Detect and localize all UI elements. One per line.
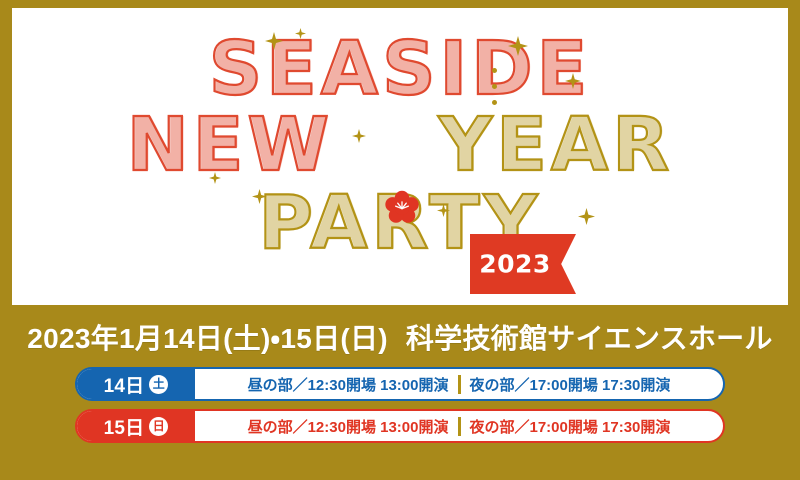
logo-line-seaside: SEASIDE: [12, 32, 788, 106]
sparkle-icon-8: [578, 208, 595, 230]
schedule-row-day2: 15日 日 昼の部／12:30開場 13:00開演 夜の部／17:00開場 17…: [75, 409, 725, 443]
sparkle-icon-4: [565, 73, 581, 94]
poster-root: SEASIDE NEW YEAR PARTY: [0, 0, 800, 480]
sparkle-icon-5: [352, 129, 366, 148]
plum-blossom-icon: [385, 190, 419, 224]
matinee-time-day1: 昼の部／12:30開場 13:00開演: [248, 374, 449, 395]
year-ribbon-banner: 2023: [470, 234, 576, 294]
time-separator-day1: [458, 375, 461, 394]
sparkle-icon-1: [265, 32, 283, 55]
event-headline: 2023年1月14日(土)・15日(日) 科学技術館サイエンスホール: [0, 317, 800, 357]
evening-time-day1: 夜の部／17:00開場 17:30開演: [470, 374, 671, 395]
sparkle-icon-2: [295, 26, 306, 44]
key-visual-card: SEASIDE NEW YEAR PARTY: [12, 8, 788, 305]
schedule-list: 14日 土 昼の部／12:30開場 13:00開演 夜の部／17:00開場 17…: [0, 367, 800, 451]
schedule-times-day2: 昼の部／12:30開場 13:00開演 夜の部／17:00開場 17:30開演: [195, 411, 723, 441]
event-venue-text: 科学技術館サイエンスホール: [406, 323, 773, 354]
day-badge-label-day2: 15日: [104, 413, 145, 440]
sparkle-icon-3: [508, 36, 528, 61]
logo-line-newyear: NEW YEAR: [12, 108, 788, 182]
event-logo: SEASIDE NEW YEAR PARTY: [12, 26, 788, 288]
logo-text-year: YEAR: [439, 108, 674, 182]
dot-ornament-1: [492, 68, 497, 73]
sparkle-icon-6: [252, 189, 267, 209]
sparkle-icon-9: [209, 171, 221, 189]
evening-time-day2: 夜の部／17:00開場 17:30開演: [470, 416, 671, 437]
dot-ornament-2: [492, 84, 497, 89]
info-band: 2023年1月14日(土)・15日(日) 科学技術館サイエンスホール 14日 土…: [0, 305, 800, 480]
day-of-week-badge-day2: 日: [149, 417, 168, 436]
time-separator-day2: [458, 417, 461, 436]
day-badge-day2: 15日 日: [77, 411, 195, 441]
matinee-time-day2: 昼の部／12:30開場 13:00開演: [248, 416, 449, 437]
schedule-row-day1: 14日 土 昼の部／12:30開場 13:00開演 夜の部／17:00開場 17…: [75, 367, 725, 401]
event-date-text: 2023年1月14日(土)・15日(日): [27, 323, 388, 354]
day-of-week-badge-day1: 土: [149, 375, 168, 394]
day-badge-label-day1: 14日: [104, 371, 145, 398]
schedule-times-day1: 昼の部／12:30開場 13:00開演 夜の部／17:00開場 17:30開演: [195, 369, 723, 399]
ribbon-year-text: 2023: [470, 250, 560, 279]
dot-ornament-3: [492, 100, 497, 105]
day-badge-day1: 14日 土: [77, 369, 195, 399]
logo-text-new: NEW: [127, 108, 333, 182]
sparkle-icon-7: [437, 204, 450, 222]
